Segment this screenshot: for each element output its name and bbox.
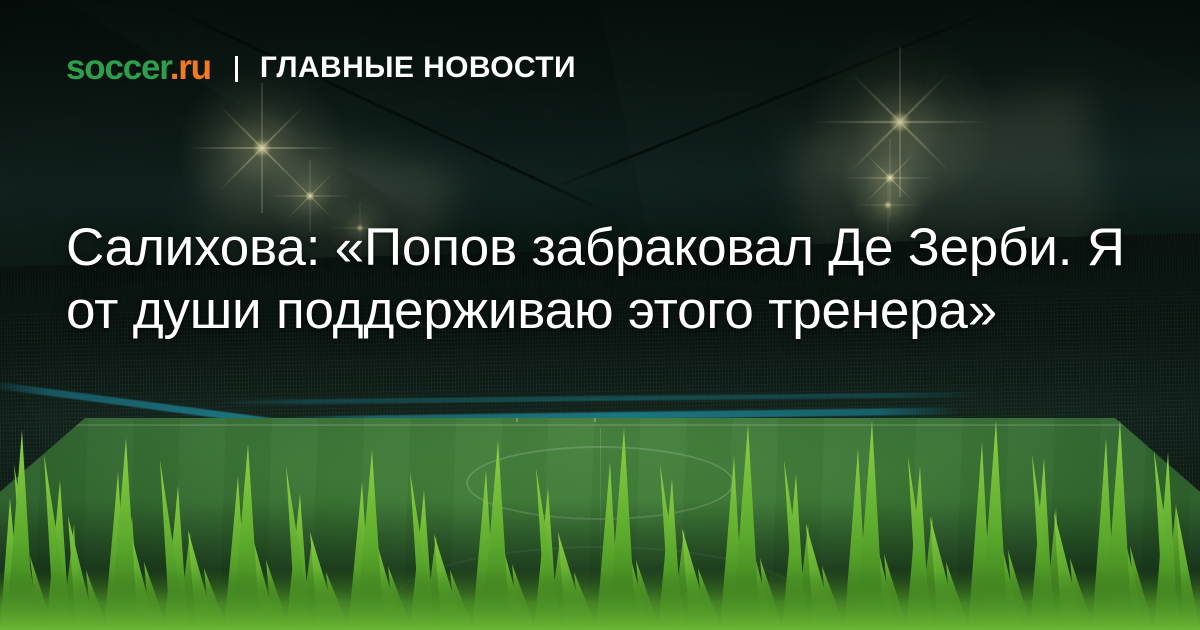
logo-text-primary: soccer	[66, 48, 170, 87]
header-separator	[235, 56, 238, 82]
article-headline: Салихова: «Попов забраковал Де Зерби. Я …	[66, 216, 1151, 342]
site-header: soccer.ru ГЛАВНЫЕ НОВОСТИ	[66, 50, 576, 85]
logo-text-suffix: .ru	[170, 48, 211, 87]
share-card: soccer.ru ГЛАВНЫЕ НОВОСТИ Салихова: «Поп…	[0, 0, 1200, 630]
soccer-ru-logo[interactable]: soccer.ru	[66, 50, 211, 85]
header-kicker-label: ГЛАВНЫЕ НОВОСТИ	[260, 53, 576, 83]
